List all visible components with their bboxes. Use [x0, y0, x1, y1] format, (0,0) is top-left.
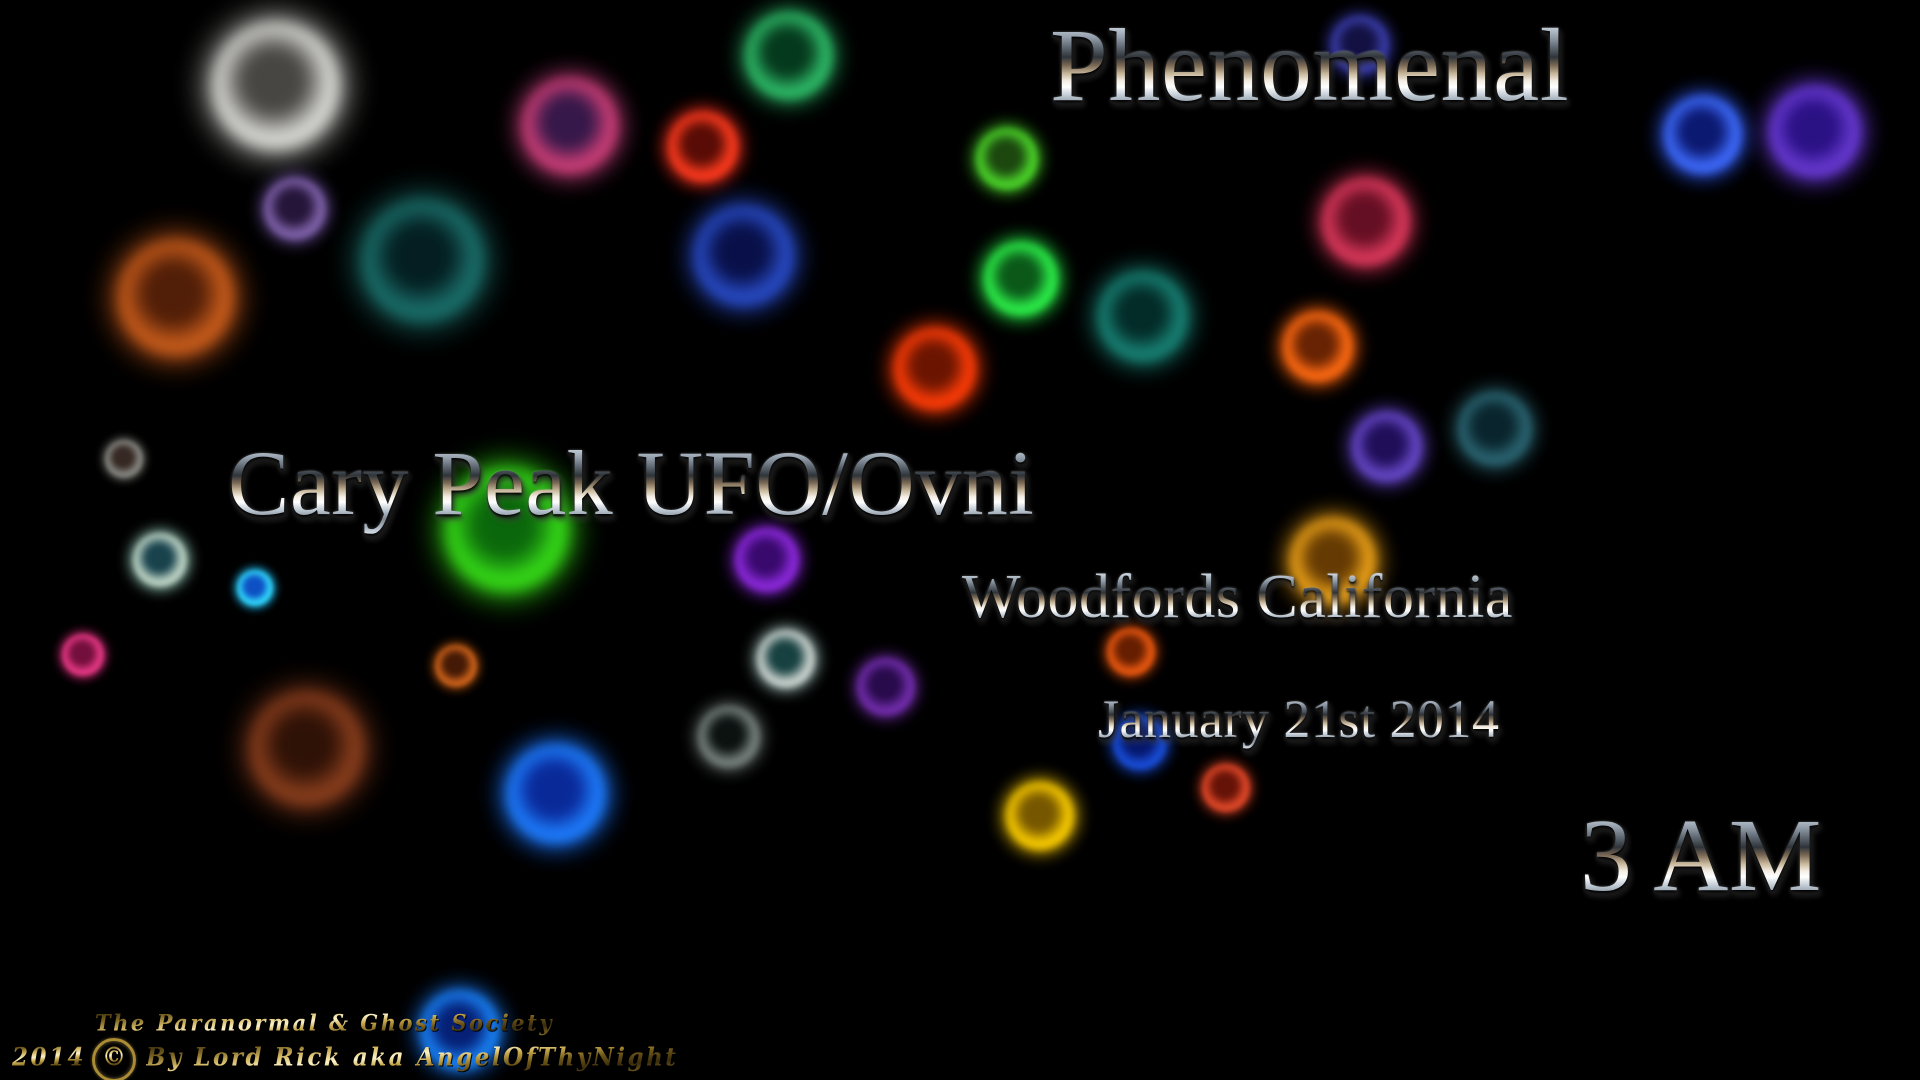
orb-teal-dark-mid [362, 200, 484, 322]
orb-pink-tiny-left [62, 634, 104, 676]
orb-white-teal-mid [757, 630, 815, 688]
watermark-year: 2014 [12, 1043, 86, 1072]
watermark-society-line: The Paranormal & Ghost Society [95, 1009, 554, 1036]
orb-red-orange-mid [894, 328, 976, 410]
orb-cyan-small [237, 570, 273, 606]
orb-crimson-right [1322, 178, 1410, 266]
date-january-21st-2014: January 21st 2014 [1098, 688, 1499, 750]
orb-orange-ring-right [1283, 312, 1353, 382]
orb-neon-green-mid [984, 242, 1058, 316]
orb-yellow-low [1006, 782, 1074, 850]
orb-white-large [212, 22, 340, 150]
subject-cary-peak-ufo-ovni: Cary Peak UFO/Ovni [228, 430, 1034, 536]
watermark-copyright-symbol: © [102, 1041, 129, 1072]
orb-magenta-pink [522, 78, 618, 174]
orb-violet-blue-right [1352, 412, 1422, 482]
orb-blue-bright-low [506, 744, 606, 844]
orb-orange-small-right [1107, 628, 1155, 676]
orb-field [0, 0, 1920, 1080]
orb-red-small-top [668, 112, 738, 182]
orb-green-bright-small [976, 128, 1038, 190]
phenomenal-orb-poster: Phenomenal Cary Peak UFO/Ovni Woodfords … [0, 0, 1920, 1080]
orb-orange-brown-left [118, 240, 234, 356]
orb-navy-blue-mid [694, 206, 794, 306]
orb-teal-deep-right [1098, 272, 1188, 362]
orb-red-ring-low [1202, 764, 1250, 812]
orb-green-teal-top [745, 12, 833, 100]
orb-gray-tiny-left [105, 440, 143, 478]
orb-teal-white-left [133, 533, 187, 587]
orb-steel-blue-right [1458, 392, 1532, 466]
watermark-author-line: By Lord Rick aka AngelOfThyNight [146, 1043, 678, 1072]
orb-violet-right [1769, 86, 1861, 178]
orb-blue-ring-right [1664, 96, 1742, 174]
orb-purple-dark-mid [857, 658, 915, 716]
title-phenomenal: Phenomenal [1050, 6, 1569, 125]
orb-purple-vivid-mid [735, 528, 799, 592]
orb-brown-large-left [250, 692, 364, 806]
orb-rust-tiny-left [435, 645, 477, 687]
time-3-am: 3 AM [1580, 796, 1822, 915]
location-woodfords-california: Woodfords California [962, 562, 1513, 633]
orb-gray-ring-mid [698, 706, 760, 768]
orb-purple-small-left [264, 178, 326, 240]
